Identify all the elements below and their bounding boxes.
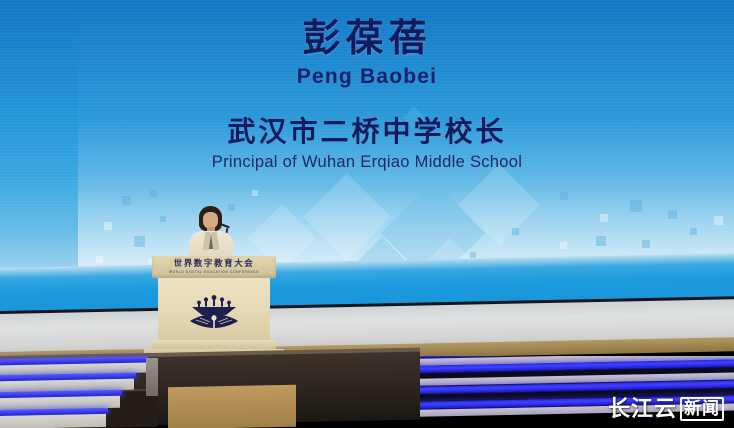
stage-riser-tan-block	[168, 385, 296, 428]
pixel-square	[560, 242, 567, 249]
pixel-square	[690, 228, 697, 235]
pixel-square	[122, 196, 131, 205]
pixel-square	[668, 210, 677, 219]
podium: 世界数字教育大会 WORLD DIGITAL EDUCATION CONFERE…	[152, 256, 276, 362]
stage-step	[0, 414, 106, 428]
pixel-square	[642, 240, 650, 248]
pixel-square	[104, 222, 112, 230]
stage-step-side	[146, 358, 158, 396]
pixel-square	[470, 252, 476, 258]
pixel-square	[560, 192, 568, 200]
broadcast-frame: 彭葆蓓 Peng Baobei 武汉市二桥中学校长 Principal of W…	[0, 0, 734, 428]
pixel-square	[630, 200, 642, 212]
pixel-square	[96, 256, 103, 263]
stage-steps	[0, 356, 176, 428]
podium-banner: 世界数字教育大会 WORLD DIGITAL EDUCATION CONFERE…	[156, 259, 272, 275]
pixel-square	[150, 190, 157, 197]
pixel-square	[160, 216, 166, 222]
open-book-emblem	[186, 294, 242, 330]
podium-base-upper	[152, 340, 276, 349]
pixel-square	[596, 236, 606, 246]
pixel-square	[252, 190, 258, 196]
pixel-square	[714, 216, 723, 225]
pixel-square	[134, 236, 145, 247]
channel-logo-news-badge: 新闻	[680, 397, 724, 421]
pixel-square	[600, 214, 608, 222]
channel-logo: 长江云 新闻	[606, 396, 726, 422]
podium-banner-cn: 世界数字教育大会	[156, 259, 272, 268]
pixel-square	[512, 228, 519, 235]
channel-logo-text: 长江云	[608, 398, 677, 420]
podium-banner-en: WORLD DIGITAL EDUCATION CONFERENCE	[156, 270, 272, 274]
